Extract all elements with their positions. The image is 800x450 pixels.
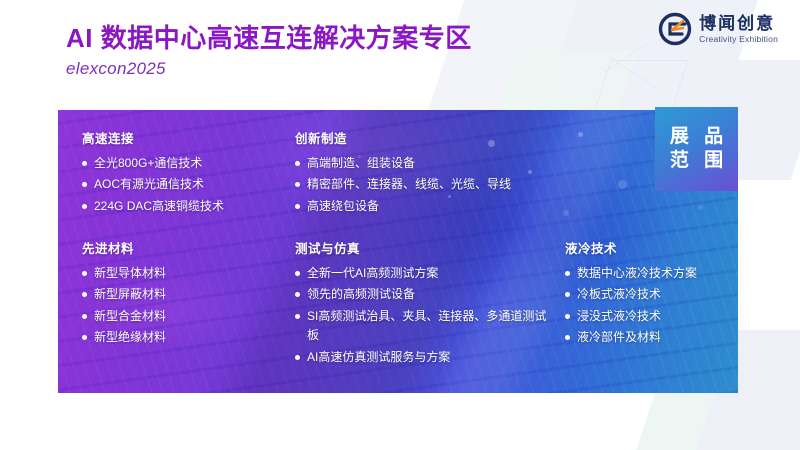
bullet-icon [565,335,570,340]
list-item: 精密部件、连接器、线缆、光缆、导线 [295,175,560,194]
list-item-label: 224G DAC高速铜缆技术 [94,197,224,216]
list-item-label: 高速绕包设备 [307,197,379,216]
list-item-label: 精密部件、连接器、线缆、光缆、导线 [307,175,511,194]
title-block: AI 数据中心高速互连解决方案专区 elexcon2025 [66,24,472,79]
list-item-label: 浸没式液冷技术 [577,307,661,326]
list-item: 数据中心液冷技术方案 [565,264,738,283]
list-item-label: 领先的高频测试设备 [307,285,415,304]
list-item-label: 冷板式液冷技术 [577,285,661,304]
badge-line-2: 范 围 [665,149,728,173]
list-item: AOC有源光通信技术 [82,175,297,194]
bullet-icon [295,161,300,166]
list-item: 新型导体材料 [82,264,297,283]
bullet-icon [295,271,300,276]
bullet-icon [82,182,87,187]
bullet-icon [565,292,570,297]
bullet-icon [295,355,300,360]
bullet-icon [295,314,300,319]
category-column-innovative-manufacturing: 创新制造 高端制造、组装设备 精密部件、连接器、线缆、光缆、导线 高速绕包设备 [295,128,560,218]
category-heading: 创新制造 [295,128,560,147]
list-item-label: 新型屏蔽材料 [94,285,166,304]
category-column-liquid-cooling: 液冷技术 数据中心液冷技术方案 冷板式液冷技术 浸没式液冷技术 液冷部件及材料 [565,238,738,350]
exhibit-scope-panel: 高速连接 全光800G+通信技术 AOC有源光通信技术 224G DAC高速铜缆… [58,110,738,393]
list-item: 液冷部件及材料 [565,328,738,347]
list-item: 全新一代AI高频测试方案 [295,264,555,283]
list-item-label: 新型合金材料 [94,307,166,326]
bullet-icon [82,204,87,209]
list-item: 冷板式液冷技术 [565,285,738,304]
page-title: AI 数据中心高速互连解决方案专区 [66,24,472,54]
list-item: 224G DAC高速铜缆技术 [82,197,297,216]
list-item-label: AI高速仿真测试服务与方案 [307,348,450,367]
page-header: AI 数据中心高速互连解决方案专区 elexcon2025 博闻创意 Creat… [0,0,800,108]
bullet-icon [82,314,87,319]
category-grid: 高速连接 全光800G+通信技术 AOC有源光通信技术 224G DAC高速铜缆… [58,110,738,393]
logo-name-en: Creativity Exhibition [699,35,778,44]
bullet-icon [565,271,570,276]
list-item: 新型绝缘材料 [82,328,297,347]
bullet-icon [295,292,300,297]
category-column-advanced-materials: 先进材料 新型导体材料 新型屏蔽材料 新型合金材料 新型绝缘材料 [82,238,297,350]
bullet-icon [82,161,87,166]
logo-text: 博闻创意 Creativity Exhibition [699,15,778,44]
list-item: 新型屏蔽材料 [82,285,297,304]
list-item: AI高速仿真测试服务与方案 [295,348,555,367]
category-heading: 高速连接 [82,128,297,147]
list-item: SI高频测试治具、夹具、连接器、多通道测试板 [295,307,555,346]
bullet-icon [295,204,300,209]
category-column-high-speed-connection: 高速连接 全光800G+通信技术 AOC有源光通信技术 224G DAC高速铜缆… [82,128,297,218]
list-item-label: 数据中心液冷技术方案 [577,264,697,283]
logo-name-cn: 博闻创意 [699,15,778,32]
exhibit-scope-badge: 展 品 范 围 [655,107,738,191]
list-item: 高端制造、组装设备 [295,154,560,173]
bullet-icon [82,271,87,276]
logo-e-emblem-icon [658,12,692,46]
list-item-label: 液冷部件及材料 [577,328,661,347]
category-heading: 测试与仿真 [295,238,555,257]
bullet-icon [82,292,87,297]
list-item-label: SI高频测试治具、夹具、连接器、多通道测试板 [307,307,555,346]
list-item-label: 新型导体材料 [94,264,166,283]
list-item-label: 高端制造、组装设备 [307,154,415,173]
list-item-label: 全光800G+通信技术 [94,154,202,173]
category-heading: 液冷技术 [565,238,738,257]
badge-line-1: 展 品 [665,125,728,149]
category-heading: 先进材料 [82,238,297,257]
bullet-icon [565,314,570,319]
bullet-icon [82,335,87,340]
list-item: 领先的高频测试设备 [295,285,555,304]
list-item-label: AOC有源光通信技术 [94,175,204,194]
list-item: 高速绕包设备 [295,197,560,216]
list-item: 全光800G+通信技术 [82,154,297,173]
brand-logo: 博闻创意 Creativity Exhibition [658,12,778,46]
page-subtitle: elexcon2025 [66,59,472,79]
list-item-label: 全新一代AI高频测试方案 [307,264,438,283]
list-item: 浸没式液冷技术 [565,307,738,326]
list-item: 新型合金材料 [82,307,297,326]
list-item-label: 新型绝缘材料 [94,328,166,347]
bullet-icon [295,182,300,187]
category-column-test-and-simulation: 测试与仿真 全新一代AI高频测试方案 领先的高频测试设备 SI高频测试治具、夹具… [295,238,555,369]
